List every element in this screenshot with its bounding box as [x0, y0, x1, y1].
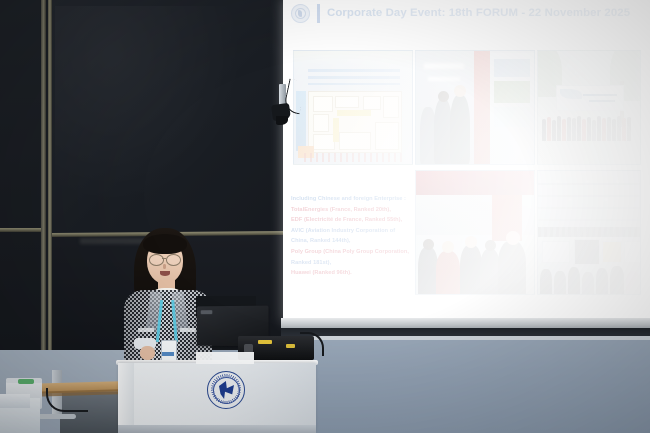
desk-cable [46, 388, 88, 412]
university-seal-icon [207, 371, 245, 409]
slide-text-block: Including Chinese and foreign Enterprise… [291, 194, 409, 279]
person-silhouette [577, 116, 581, 141]
chalk-rail [0, 228, 41, 232]
person-silhouette [554, 271, 566, 295]
person-silhouette [596, 268, 608, 295]
floorplan-cell [375, 122, 399, 150]
crowd [538, 263, 641, 295]
person-head [423, 239, 434, 250]
person-silhouette [436, 251, 460, 295]
glasses-icon [166, 254, 181, 266]
person-silhouette [418, 247, 438, 295]
equipment-label-strip [258, 340, 272, 344]
floorplan-cell [335, 96, 359, 108]
floorplan-cell [339, 132, 371, 150]
university-seal-icon [291, 4, 310, 23]
person-silhouette [622, 118, 626, 141]
waste-bin-liner [18, 379, 34, 384]
ceiling-lamp [586, 180, 590, 183]
poster-image [494, 59, 530, 77]
presenter-hand [140, 346, 155, 360]
poster-image [494, 107, 530, 127]
person-silhouette [572, 118, 576, 141]
person-silhouette [568, 267, 580, 295]
lecture-hall-scene: Corporate Day Event: 18th FORUM - 22 Nov… [0, 0, 650, 433]
photo-exhibition-floorplan [293, 50, 413, 165]
booth [574, 239, 600, 265]
podium-papers [196, 352, 254, 364]
person-silhouette [540, 269, 552, 295]
person-silhouette [547, 117, 551, 141]
photo-conference-hall [537, 170, 641, 295]
slide-text-line: Poly Group (China Poly Group Corporation… [291, 247, 409, 258]
hall-truss [538, 227, 641, 237]
crowd [416, 229, 535, 295]
person-head [442, 241, 454, 253]
slide-text-line: Ranked 181st), [291, 258, 409, 269]
blackboard-panel-left [0, 0, 40, 350]
photo-corridor-visitors [415, 50, 535, 165]
ceiling-beam [538, 219, 641, 221]
ceiling-lamp [604, 198, 608, 201]
ceiling-beam [538, 183, 641, 185]
person-silhouette [610, 266, 624, 295]
person-head [506, 231, 520, 245]
ceiling-light [428, 77, 460, 81]
person-silhouette [542, 119, 546, 141]
equipment-label-strip [286, 344, 295, 348]
person-silhouette [626, 271, 640, 295]
podium-side-panel [118, 363, 134, 433]
papers [0, 394, 30, 408]
podium-trim [118, 425, 316, 433]
ceiling-lamp [556, 180, 560, 183]
slide-title-bar: Corporate Day Event: 18th FORUM - 22 Nov… [283, 0, 650, 26]
person-silhouette [612, 119, 616, 141]
ceiling-beam [538, 195, 641, 197]
ceiling-beam [538, 207, 641, 209]
jacket-pocket [138, 328, 154, 332]
poster-footer-text [304, 153, 404, 162]
person-silhouette [552, 120, 556, 141]
person-silhouette [567, 117, 571, 141]
monitor-foot [38, 414, 76, 419]
banner-text-line [589, 100, 615, 102]
floorplan-highlight [333, 118, 339, 142]
person-head [485, 240, 496, 251]
person-silhouette [607, 117, 611, 141]
poster-image [494, 81, 530, 103]
floorplan-grid [308, 91, 402, 153]
banner-logo-icon [560, 89, 582, 99]
person-silhouette [582, 119, 586, 141]
floorplan-cell [363, 96, 381, 110]
glasses-icon [149, 254, 164, 266]
projection-screen: Corporate Day Event: 18th FORUM - 22 Nov… [283, 0, 650, 322]
ceiling-light [424, 63, 464, 69]
banner-text-line [583, 94, 617, 96]
booth [542, 241, 570, 263]
hall-ceiling [538, 171, 641, 229]
floorplan-cell [313, 114, 329, 132]
name-badge [161, 340, 177, 362]
person-silhouette [597, 116, 601, 141]
blackboard-glare [55, 6, 245, 206]
slide-text-line: EDF (Electricité de France, Ranked 55th)… [291, 215, 409, 226]
floorplan-cell [313, 134, 335, 150]
person-silhouette [587, 117, 591, 141]
person-silhouette [592, 120, 596, 141]
ceiling-lamp [616, 180, 620, 183]
photo-outdoor-group [537, 50, 641, 165]
person-silhouette [562, 119, 566, 141]
floorplan-highlight [337, 110, 371, 116]
person-head [438, 91, 449, 102]
event-banner [556, 85, 624, 111]
person-silhouette [617, 116, 621, 141]
blackboard-frame [41, 0, 46, 350]
person-silhouette [627, 117, 631, 141]
slide-text-line: TotalEnergies (France, Ranked 20th), [291, 205, 409, 216]
vertical-bar-icon [317, 4, 320, 23]
floorplan-cell [313, 96, 333, 112]
person-silhouette [602, 118, 606, 141]
seal-emblem [219, 381, 234, 399]
person-silhouette [460, 245, 482, 295]
person-silhouette [450, 95, 470, 165]
jacket-pocket [180, 328, 196, 332]
poster-heading [308, 69, 400, 85]
person-silhouette [557, 116, 561, 141]
red-banner [474, 51, 490, 165]
poster-board [490, 53, 534, 163]
ceiling-lamp [568, 198, 572, 201]
person-head [454, 85, 466, 97]
seal-arc-text [210, 373, 242, 405]
backdrop-upper [416, 171, 535, 195]
booth [602, 241, 622, 263]
glasses-bridge [162, 258, 166, 259]
person-silhouette [582, 272, 594, 295]
presenter-fringe [143, 234, 187, 254]
presenter-nose [163, 264, 166, 269]
group-photo-row [542, 113, 638, 141]
photo-indoor-delegates [415, 170, 535, 295]
screen-underlip [281, 336, 650, 340]
person-silhouette [480, 249, 500, 295]
slide-text-line: Including Chinese and foreign Enterprise… [291, 194, 409, 205]
slide-title: Corporate Day Event: 18th FORUM - 22 Nov… [327, 7, 630, 19]
laptop-logo [201, 310, 213, 314]
slide-text-line: Huawei (Ranked 96th). [291, 268, 409, 279]
name-badge-strip [162, 352, 174, 356]
presenter-mouth [160, 271, 170, 276]
podium [118, 363, 316, 433]
person-head [465, 236, 477, 248]
booth [624, 241, 641, 263]
person-silhouette [498, 241, 526, 295]
slide-text-line: AVIC (Aviation Industry Corporation of [291, 226, 409, 237]
floorplan-cell [383, 96, 399, 118]
slide-text-line: China, Ranked 144th), [291, 236, 409, 247]
